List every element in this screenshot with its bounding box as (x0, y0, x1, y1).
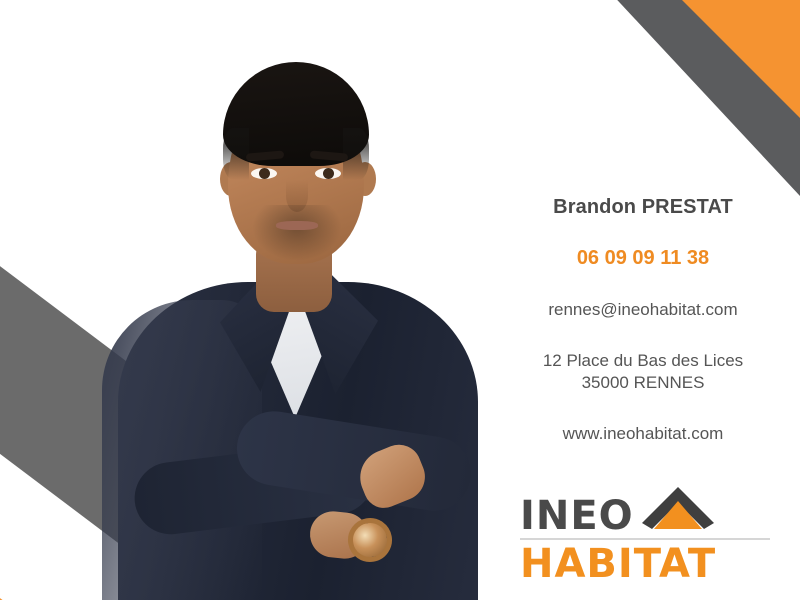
mouth (276, 221, 318, 230)
ineo-habitat-logo: INEO HABITAT (520, 488, 770, 588)
logo-top-row: INEO (520, 488, 770, 536)
contact-email[interactable]: rennes@ineohabitat.com (498, 300, 788, 320)
portrait-photo (60, 0, 520, 600)
orange-corner-top-right (682, 0, 800, 118)
logo-word-ineo: INEO (520, 496, 634, 536)
house-roof-icon (640, 485, 716, 536)
address-line-2: 35000 RENNES (498, 372, 788, 394)
contact-name: Brandon PRESTAT (498, 196, 788, 219)
contact-address: 12 Place du Bas des Lices 35000 RENNES (498, 350, 788, 394)
contact-website[interactable]: www.ineohabitat.com (498, 424, 788, 444)
eye-left (251, 168, 277, 179)
business-card: Brandon PRESTAT 06 09 09 11 38 rennes@in… (0, 0, 800, 600)
contact-block: Brandon PRESTAT 06 09 09 11 38 rennes@in… (498, 196, 788, 444)
address-line-1: 12 Place du Bas des Lices (498, 350, 788, 372)
eye-right (315, 168, 341, 179)
beard (252, 205, 342, 261)
hair-fade-left (223, 128, 249, 180)
logo-word-habitat: HABITAT (520, 542, 770, 586)
contact-phone[interactable]: 06 09 09 11 38 (498, 247, 788, 270)
logo-divider (520, 538, 770, 540)
gray-stripe-top-right (524, 0, 800, 207)
